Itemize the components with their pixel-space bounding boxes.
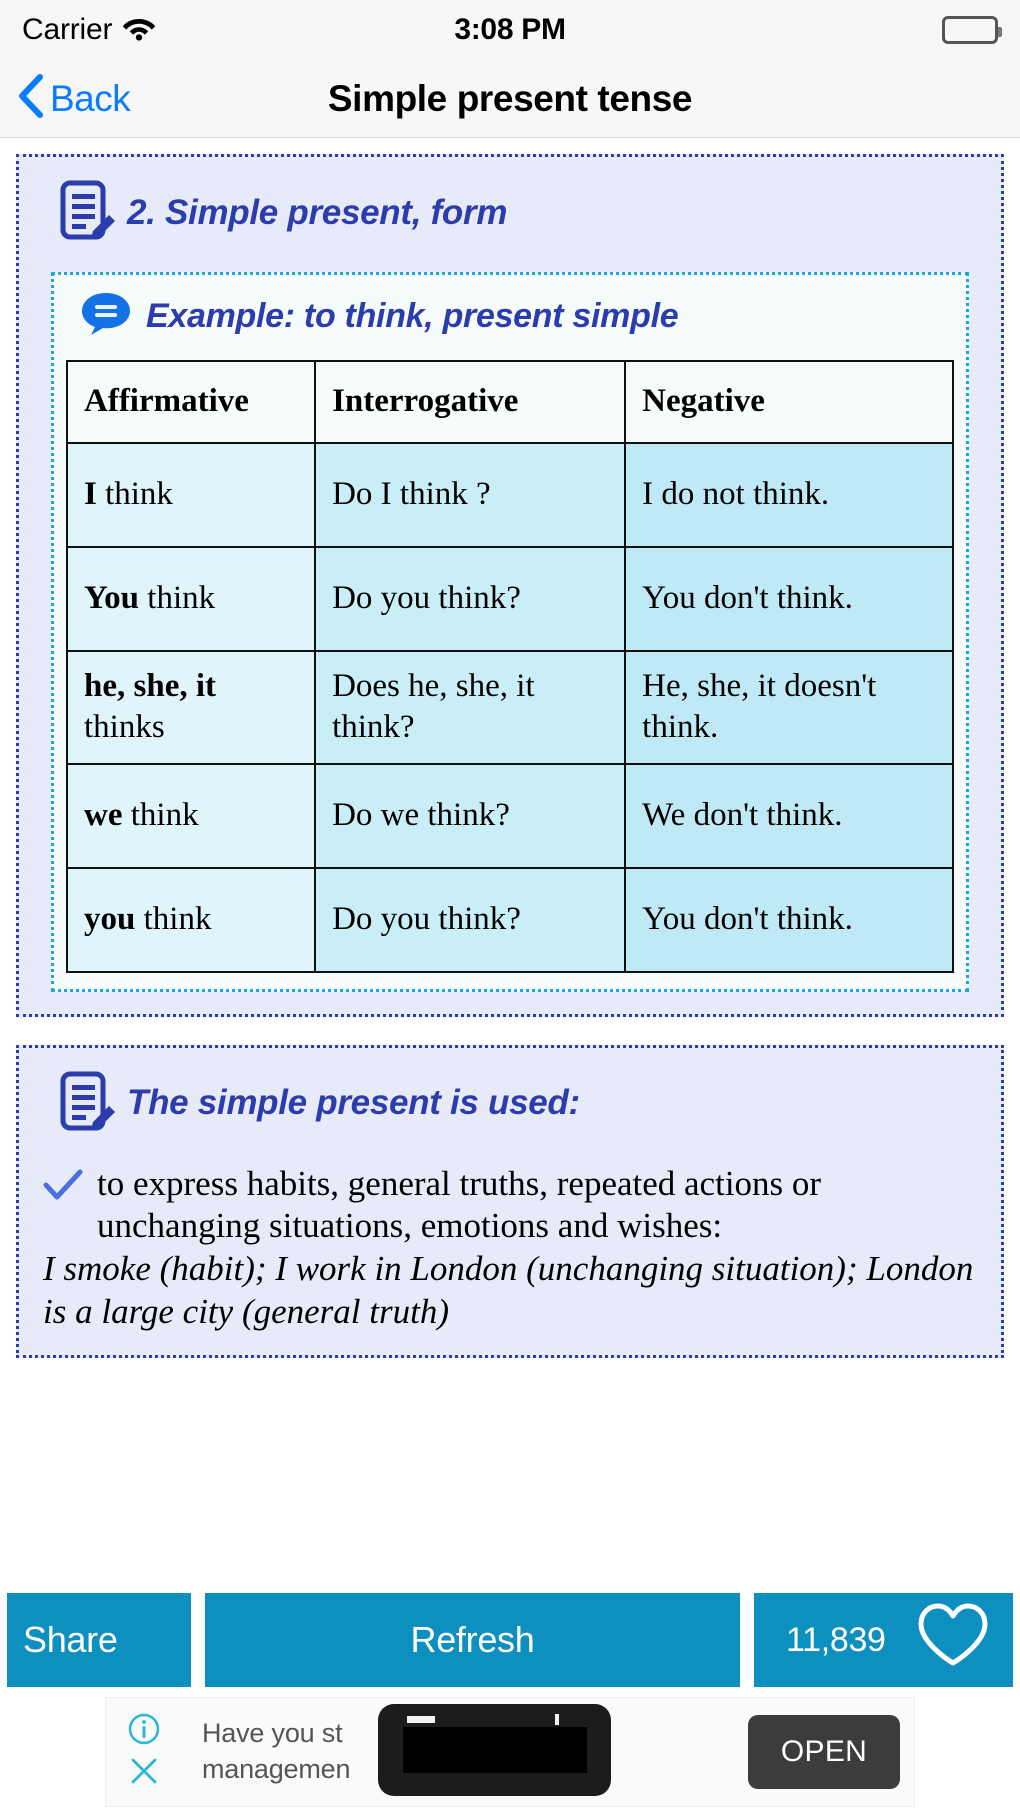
back-button[interactable]: Back	[0, 73, 130, 124]
content-area: 2. Simple present, form Example: to thin…	[0, 138, 1020, 1358]
check-icon	[43, 1169, 83, 1214]
page-title: Simple present tense	[0, 78, 1020, 120]
column-header-affirmative: Affirmative	[67, 361, 315, 443]
ad-controls	[120, 1712, 168, 1792]
status-bar: Carrier 3:08 PM	[0, 0, 1020, 60]
cell-negative: You don't think.	[625, 868, 953, 972]
cell-affirmative: he, she, it thinks	[67, 651, 315, 764]
cell-interrogative: Do you think?	[315, 868, 625, 972]
cell-negative: We don't think.	[625, 764, 953, 868]
usage-bullet: to express habits, general truths, repea…	[43, 1163, 977, 1248]
chevron-left-icon	[18, 73, 44, 124]
ad-content[interactable]: Have you st managemen OPEN	[105, 1697, 915, 1807]
example-card: Example: to think, present simple Affirm…	[51, 272, 969, 992]
pronoun: I	[84, 476, 97, 512]
cell-affirmative: I think	[67, 443, 315, 547]
usage-card-title: The simple present is used:	[127, 1083, 580, 1123]
verb-form: think	[97, 476, 173, 512]
info-circle-icon[interactable]	[127, 1712, 161, 1751]
verb-form: think	[135, 901, 211, 937]
cell-interrogative: Do I think ?	[315, 443, 625, 547]
simple-present-usage-card: The simple present is used: to express h…	[16, 1045, 1004, 1359]
navigation-bar: Back Simple present tense	[0, 60, 1020, 138]
verb-form: think	[139, 580, 215, 616]
favorite-count: 11,839	[786, 1621, 886, 1660]
cell-negative: You don't think.	[625, 547, 953, 651]
cell-negative: I do not think.	[625, 443, 953, 547]
form-card-heading: 2. Simple present, form	[37, 179, 983, 246]
back-label: Back	[50, 78, 130, 120]
heart-outline-icon	[917, 1603, 989, 1678]
form-card-title: 2. Simple present, form	[127, 193, 507, 233]
note-pencil-icon	[59, 1070, 115, 1137]
usage-bullet-text: to express habits, general truths, repea…	[97, 1163, 977, 1248]
close-x-icon[interactable]	[128, 1755, 160, 1792]
refresh-button[interactable]: Refresh	[202, 1590, 743, 1690]
status-bar-right	[942, 16, 998, 44]
cell-negative: He, she, it doesn't think.	[625, 651, 953, 764]
cell-interrogative: Do we think?	[315, 764, 625, 868]
example-card-heading: Example: to think, present simple	[66, 291, 954, 342]
table-header-row: Affirmative Interrogative Negative	[67, 361, 953, 443]
pronoun: You	[84, 580, 139, 616]
cell-interrogative: Does he, she, it think?	[315, 651, 625, 764]
share-button[interactable]: Share	[4, 1590, 194, 1690]
status-time: 3:08 PM	[0, 13, 1020, 47]
note-pencil-icon	[59, 179, 115, 246]
verb-form: thinks	[84, 709, 165, 745]
example-card-title: Example: to think, present simple	[146, 297, 678, 336]
pronoun: we	[84, 797, 122, 833]
table-row: he, she, it thinks Does he, she, it thin…	[67, 651, 953, 764]
cell-interrogative: Do you think?	[315, 547, 625, 651]
pronoun: he, she, it	[84, 668, 216, 704]
column-header-negative: Negative	[625, 361, 953, 443]
battery-icon	[942, 16, 998, 44]
usage-examples: I smoke (habit); I work in London (uncha…	[43, 1248, 977, 1333]
favorite-button[interactable]: 11,839	[751, 1590, 1016, 1690]
cell-affirmative: You think	[67, 547, 315, 651]
column-header-interrogative: Interrogative	[315, 361, 625, 443]
usage-card-heading: The simple present is used:	[37, 1070, 983, 1137]
ad-banner: Have you st managemen OPEN	[0, 1690, 1020, 1813]
table-row: you think Do you think? You don't think.	[67, 868, 953, 972]
table-row: I think Do I think ? I do not think.	[67, 443, 953, 547]
simple-present-form-card: 2. Simple present, form Example: to thin…	[16, 154, 1004, 1017]
ad-media-overlay	[378, 1704, 611, 1796]
ad-media-placeholder	[403, 1727, 587, 1773]
cell-affirmative: you think	[67, 868, 315, 972]
verb-form: think	[122, 797, 198, 833]
table-row: we think Do we think? We don't think.	[67, 764, 953, 868]
bottom-toolbar: Share Refresh 11,839	[0, 1590, 1020, 1690]
ad-open-button[interactable]: OPEN	[748, 1715, 900, 1789]
usage-card-body: to express habits, general truths, repea…	[37, 1163, 983, 1334]
speech-bubble-icon	[80, 291, 132, 342]
table-row: You think Do you think? You don't think.	[67, 547, 953, 651]
cell-affirmative: we think	[67, 764, 315, 868]
pronoun: you	[84, 901, 135, 937]
conjugation-table: Affirmative Interrogative Negative I thi…	[66, 360, 954, 973]
